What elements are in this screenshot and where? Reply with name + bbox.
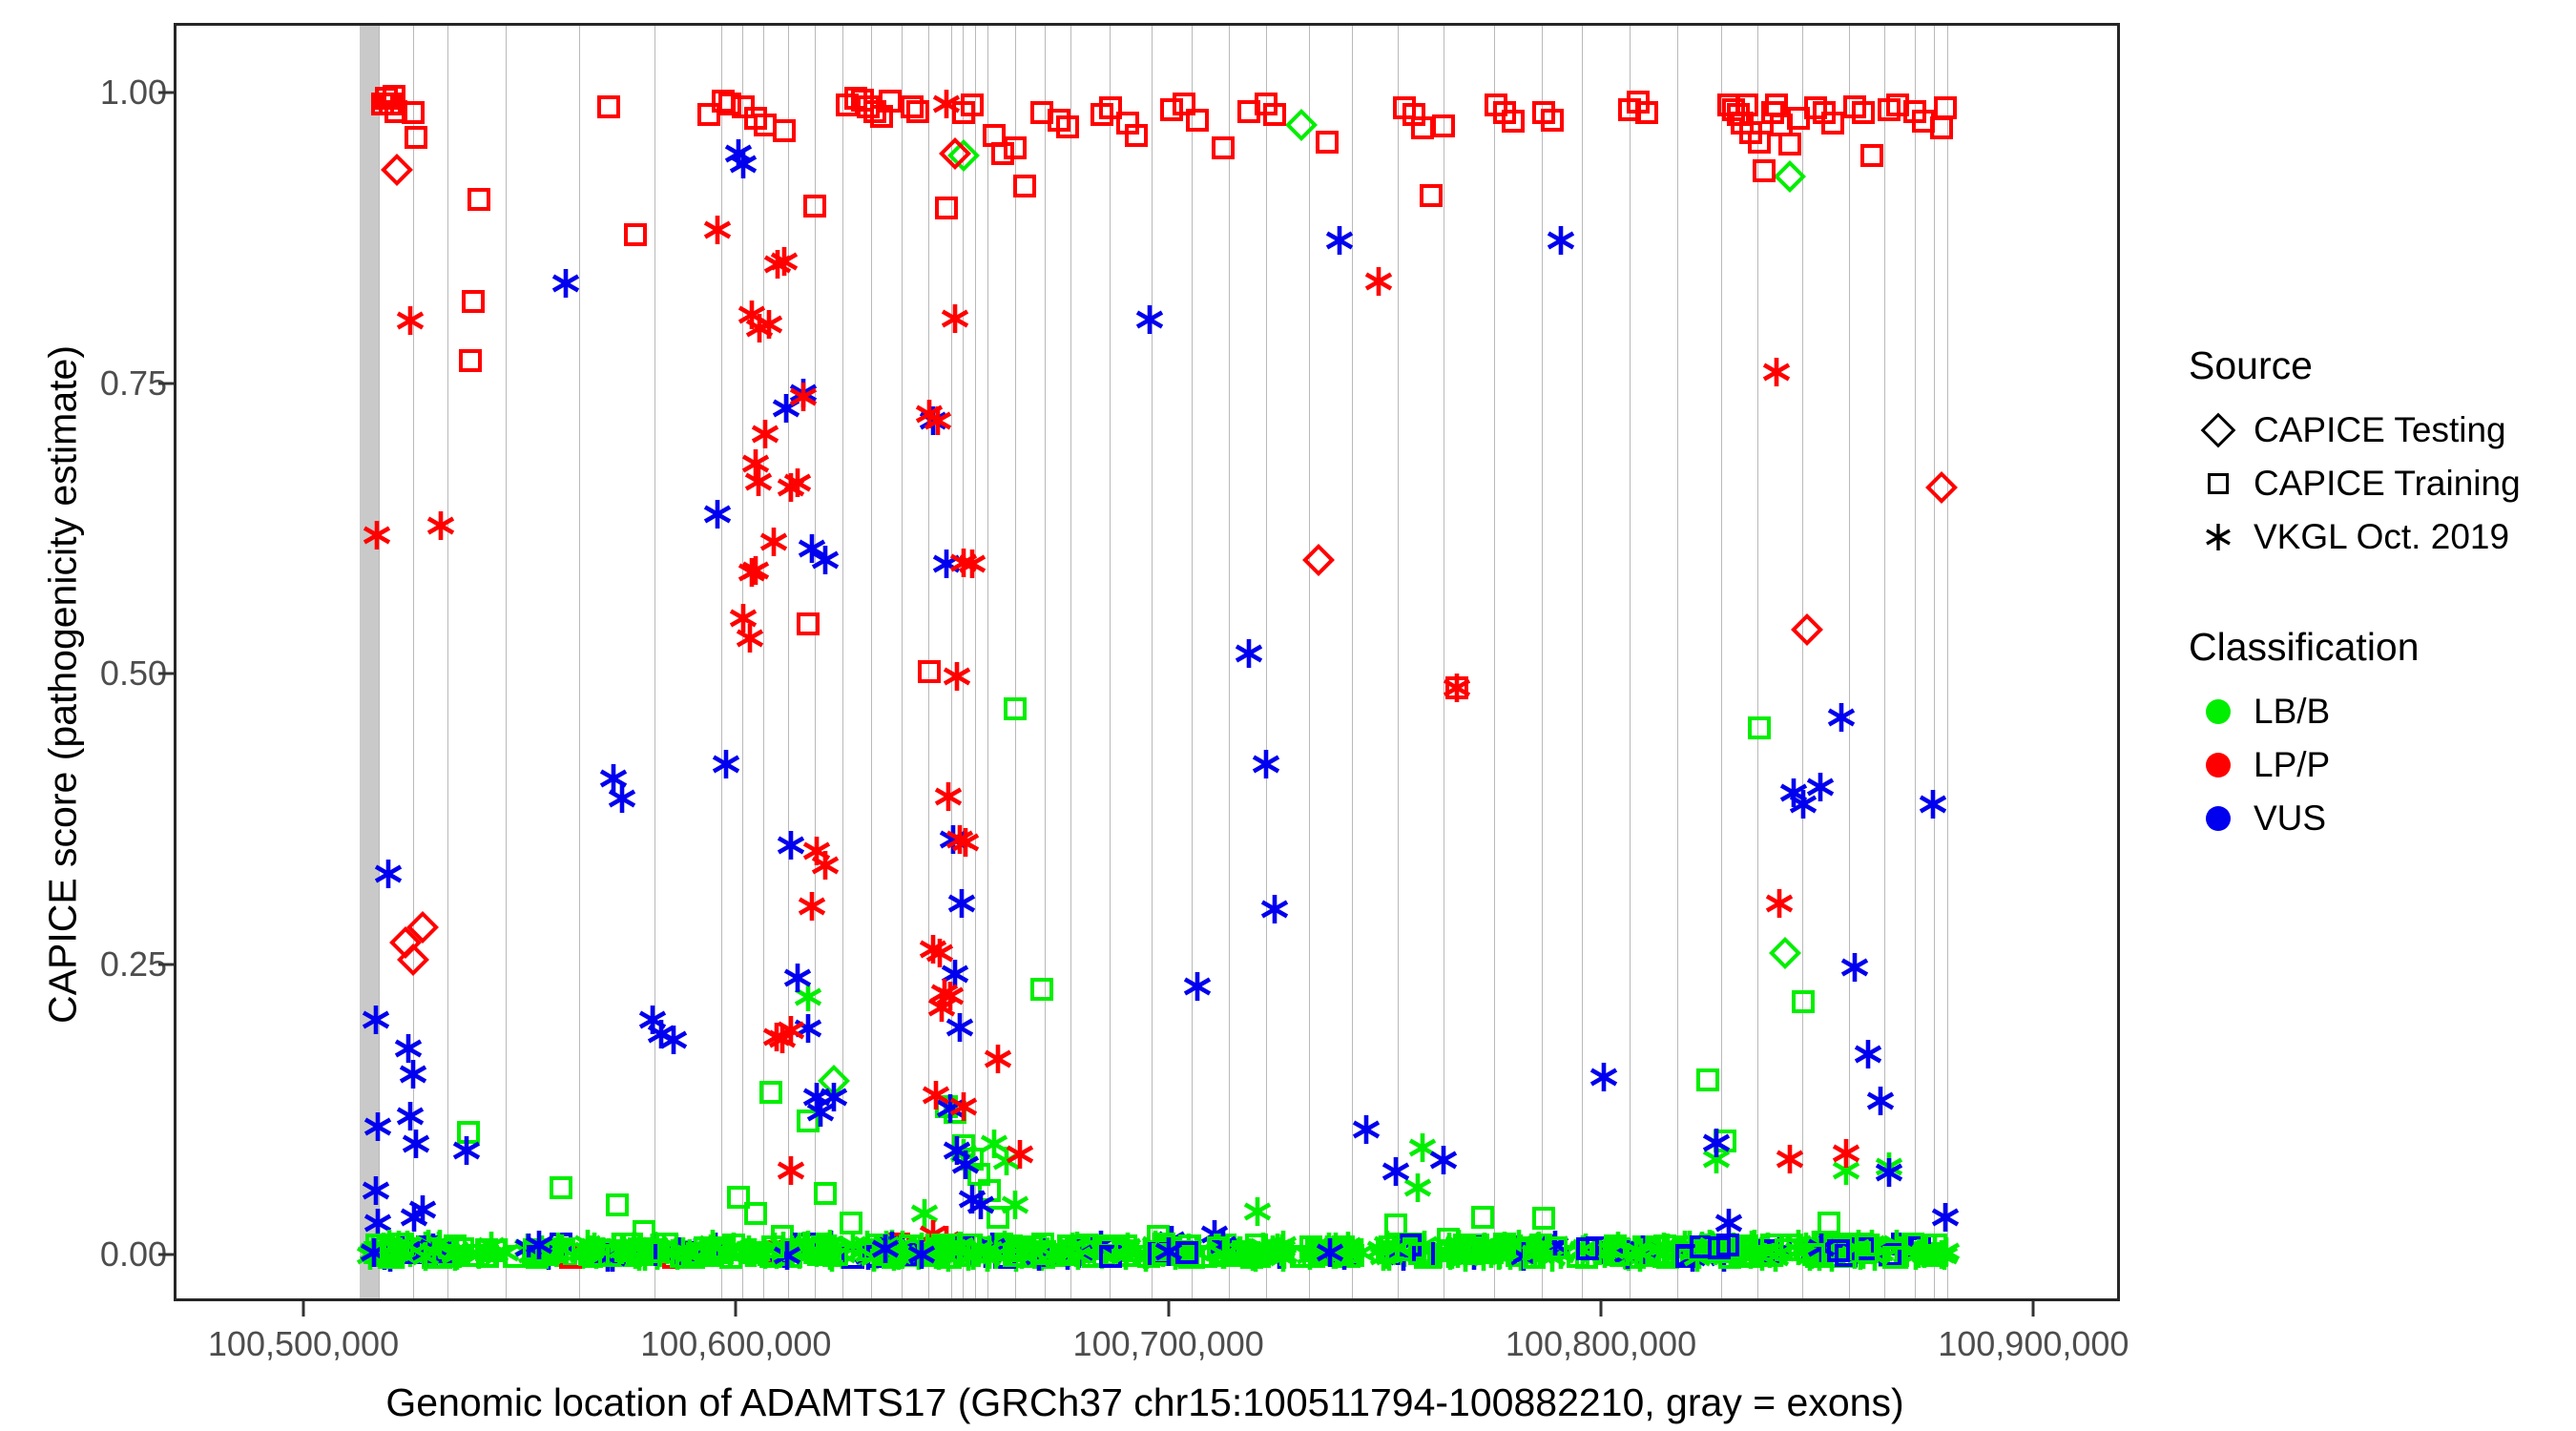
exon-gridline [1677,26,1678,1298]
point-square [593,1241,616,1264]
point-diamond [406,911,439,944]
point-square [1606,1237,1629,1260]
point-square [523,1238,546,1261]
point-asterisk [766,1236,799,1269]
point-asterisk [796,532,828,565]
legend-dot-icon [2183,753,2254,778]
point-diamond [1925,471,1958,504]
point-asterisk [1056,1231,1089,1263]
point-asterisk [956,1183,988,1215]
point-asterisk [578,1231,611,1263]
legend-diamond-icon [2183,418,2254,443]
point-square [377,1244,400,1267]
point-asterisk [973,1234,1006,1266]
point-square [1056,1243,1079,1266]
point-square [1707,1240,1730,1263]
point-diamond [818,1065,850,1097]
point-square [1245,1234,1268,1256]
point-asterisk [1443,1228,1475,1260]
point-asterisk [623,1240,655,1273]
y-tick-mark [158,673,174,675]
point-asterisk [1207,1229,1239,1261]
point-asterisk [796,890,828,923]
point-square [887,1233,910,1255]
point-square [949,1238,972,1261]
point-asterisk [852,1239,884,1272]
point-asterisk [645,1018,677,1050]
exon-gridline [1884,26,1885,1298]
point-asterisk [1408,1234,1441,1267]
point-asterisk [696,1228,729,1260]
x-tick-mark [735,1301,737,1317]
point-square [1412,1242,1435,1265]
point-square [1802,1243,1825,1266]
point-asterisk [571,1228,604,1260]
point-square [1338,1245,1361,1268]
point-asterisk [1130,1241,1162,1274]
point-square [624,223,647,246]
point-asterisk [1545,224,1577,257]
point-asterisk [417,1232,449,1264]
point-asterisk [949,826,982,859]
point-asterisk [753,308,785,341]
exon-gridline [963,26,964,1298]
point-asterisk [575,1234,608,1266]
exon-gridline [1915,26,1916,1298]
point-square [1807,1242,1830,1265]
point-asterisk [922,1236,954,1269]
legend-title-source: Source [2189,343,2565,388]
point-asterisk [1362,265,1395,298]
x-tick-mark [1167,1301,1170,1317]
point-square [762,1240,785,1263]
point-asterisk [546,1233,578,1265]
point-diamond [1302,544,1335,576]
point-asterisk [800,1081,833,1113]
point-square [1804,1237,1827,1260]
point-asterisk [1060,1236,1092,1269]
point-square [633,1220,655,1243]
point-square [1420,1245,1443,1268]
point-square [1048,109,1070,132]
point-square [1638,1238,1661,1261]
point-asterisk [1509,1236,1542,1269]
point-square [1464,1240,1486,1263]
point-asterisk [1163,1234,1195,1267]
point-asterisk [592,1241,624,1274]
point-asterisk [697,1231,730,1263]
point-asterisk [973,1238,1006,1271]
point-square [1739,1245,1762,1268]
point-square [1075,1234,1098,1256]
exon-gridline [902,26,903,1298]
point-diamond [381,154,413,186]
point-asterisk [1798,1235,1831,1268]
point-asterisk [1328,1239,1361,1272]
point-square [1827,1233,1850,1255]
point-asterisk [739,447,772,480]
point-asterisk [876,1228,908,1260]
point-asterisk [597,762,630,795]
point-square [416,1235,439,1258]
point-asterisk [792,1229,824,1261]
point-asterisk [1612,1236,1645,1269]
point-asterisk [1402,1172,1434,1204]
point-square [462,1244,485,1267]
point-square [1863,1240,1886,1263]
point-square [1006,1239,1028,1262]
point-asterisk [523,1229,555,1261]
point-asterisk [463,1238,495,1271]
point-square [1393,1236,1416,1259]
point-asterisk [952,1240,985,1273]
legend-item-lb-b[interactable]: LB/B [2183,685,2565,738]
point-asterisk [1873,1151,1905,1183]
point-square [1402,103,1425,126]
point-asterisk [937,1232,969,1264]
point-asterisk [956,548,988,580]
point-square [1818,1212,1840,1234]
exon-gridline [579,26,580,1298]
point-square [1545,1236,1568,1259]
point-asterisk [1864,1085,1897,1117]
point-asterisk [661,1239,694,1272]
point-asterisk [1695,1229,1728,1261]
point-asterisk [439,1239,471,1272]
y-tick-mark [158,1254,174,1256]
point-asterisk [1624,1241,1656,1274]
point-square [647,1240,670,1263]
point-asterisk [944,1011,976,1044]
exon-gridline [1192,26,1193,1298]
point-asterisk [439,1240,471,1273]
point-asterisk [1436,1238,1468,1271]
point-square [672,1241,695,1264]
point-square [866,1234,889,1256]
point-asterisk [1321,1234,1354,1266]
point-asterisk [1859,1240,1891,1273]
point-asterisk [386,1231,419,1263]
point-asterisk [406,1193,439,1226]
point-asterisk [1505,1240,1537,1273]
point-square [805,1233,828,1255]
point-asterisk [1902,1237,1935,1270]
point-square [875,1243,898,1266]
point-asterisk [424,1228,456,1260]
point-asterisk [1569,1232,1602,1264]
exon-gridline [1352,26,1353,1298]
point-asterisk [1444,1234,1476,1267]
point-asterisk [800,835,833,867]
point-square [434,1240,457,1263]
point-square [929,1237,952,1260]
point-asterisk [722,137,755,170]
point-square [1602,1241,1625,1264]
point-asterisk [1847,1238,1880,1271]
point-square [814,1182,837,1205]
point-asterisk [1367,1240,1400,1273]
point-square [1302,1245,1325,1268]
point-asterisk [930,88,963,120]
exon-gridline [1309,26,1310,1298]
point-asterisk [1388,1236,1421,1269]
point-square [961,93,984,116]
point-asterisk [592,1236,625,1269]
point-square [1835,1238,1858,1261]
exon-band [360,26,380,1298]
point-square [1463,1242,1485,1265]
exon-gridline [1110,26,1111,1298]
point-square [1092,1237,1115,1260]
point-square [1116,1244,1139,1267]
point-square [1532,101,1555,124]
point-asterisk [1181,1236,1214,1269]
point-square [742,1241,765,1264]
point-asterisk [1483,1239,1515,1272]
point-square [1818,1237,1841,1260]
point-square [1727,103,1750,126]
point-asterisk [930,1224,963,1256]
point-asterisk [1760,356,1793,388]
point-square [783,1238,806,1261]
point-asterisk [550,267,582,300]
point-asterisk [1752,1231,1784,1263]
point-square [1735,1234,1758,1257]
point-square [906,100,929,123]
point-square [1878,98,1901,121]
point-asterisk [978,1128,1010,1160]
point-asterisk [800,1236,833,1269]
point-asterisk [1110,1239,1142,1272]
point-square [924,1244,946,1267]
point-asterisk [1267,1241,1299,1274]
point-asterisk [392,1032,425,1065]
point-asterisk [876,1230,908,1262]
exon-gridline [1494,26,1495,1298]
point-asterisk [1380,1155,1412,1188]
point-asterisk [1700,1127,1733,1159]
point-asterisk [1139,1229,1172,1261]
legend-item-capice-testing[interactable]: CAPICE Testing [2183,404,2565,457]
point-asterisk [1700,1143,1733,1175]
point-diamond [389,926,422,959]
point-asterisk [917,933,949,965]
point-asterisk [1263,1238,1296,1271]
point-asterisk [1503,1228,1535,1260]
point-square [631,1243,654,1266]
point-square [383,1239,405,1262]
legend-item-vus[interactable]: VUS [2183,792,2565,845]
point-square [1376,1240,1399,1263]
point-asterisk [1827,1234,1859,1266]
exon-gridline [871,26,872,1298]
point-square [1814,1233,1837,1255]
point-asterisk [1815,1237,1847,1270]
x-tick-label: 100,900,000 [1938,1324,2129,1364]
point-asterisk [532,1239,565,1272]
point-square [1063,1243,1086,1266]
exon-gridline [654,26,655,1298]
point-asterisk [1129,1238,1161,1271]
point-asterisk [1804,771,1837,803]
point-asterisk [1907,1236,1940,1269]
point-asterisk [1164,1234,1196,1267]
point-square [990,1233,1013,1255]
point-square [467,1244,489,1267]
point-square [1930,116,1953,139]
point-asterisk [739,554,772,587]
point-asterisk [1233,637,1265,670]
point-asterisk [699,1231,732,1263]
point-asterisk [1873,1156,1905,1189]
point-asterisk [1335,1234,1367,1267]
point-square [535,1238,558,1261]
point-square [429,1246,452,1269]
point-asterisk [774,1237,806,1270]
point-square [1818,1245,1840,1268]
legend-item-capice-training[interactable]: CAPICE Training [2183,457,2565,510]
point-asterisk [411,1238,444,1271]
legend-asterisk-icon [2183,521,2254,553]
point-asterisk [1159,1239,1192,1272]
point-square [1879,1243,1901,1266]
point-asterisk [945,887,978,920]
point-asterisk [922,404,954,437]
point-square [758,1243,780,1266]
point-asterisk [580,1238,613,1271]
point-asterisk [1475,1237,1507,1270]
point-square [589,1244,612,1267]
point-square [773,119,796,142]
point-asterisk [965,1189,997,1221]
exon-gridline [1542,26,1543,1298]
exon-gridline [1802,26,1803,1298]
point-square [1675,1245,1698,1268]
point-asterisk [526,1234,558,1266]
point-asterisk [775,829,807,861]
point-square [1716,1234,1739,1256]
point-asterisk [648,1231,680,1263]
y-tick-label: 1.00 [100,73,167,113]
point-square [1229,1244,1252,1267]
y-tick-label: 0.75 [100,363,167,404]
point-square [1024,1235,1047,1258]
point-asterisk [1696,1230,1729,1262]
point-asterisk [1423,1238,1456,1271]
point-square [761,1235,784,1258]
point-square [598,1244,621,1267]
point-square [1232,1240,1255,1263]
point-asterisk [1801,1235,1834,1268]
point-square [697,103,720,126]
point-asterisk [1053,1234,1086,1267]
point-asterisk [617,1236,650,1269]
point-asterisk [636,1004,669,1036]
x-tick-label: 100,600,000 [640,1324,831,1364]
point-asterisk [1713,1207,1745,1239]
point-asterisk [1524,1235,1556,1268]
point-square [1137,1245,1160,1268]
point-square [844,87,867,110]
point-square [1722,98,1745,121]
point-square [534,1242,557,1265]
legend-label: LB/B [2254,692,2330,732]
point-asterisk [738,1236,771,1269]
point-asterisk [920,1238,952,1271]
point-asterisk [1432,1237,1465,1270]
point-square [420,1240,443,1263]
point-asterisk [733,1234,765,1266]
point-asterisk [701,498,734,530]
point-asterisk [679,1236,712,1269]
point-asterisk [1257,1234,1289,1266]
point-square [655,1233,678,1255]
point-square [1821,112,1844,135]
point-square [825,1243,848,1266]
x-tick-mark [1600,1301,1603,1317]
point-square [779,1245,802,1268]
point-asterisk [1735,1238,1767,1271]
point-square [744,1202,767,1225]
point-asterisk [1433,1231,1465,1263]
point-asterisk [1908,1237,1941,1270]
point-asterisk [758,526,790,558]
y-tick-label: 0.50 [100,653,167,694]
point-square [613,1233,635,1255]
point-square [587,1244,610,1267]
point-asterisk [1507,1240,1540,1273]
point-square [1473,1239,1496,1262]
point-asterisk [1085,1229,1117,1261]
point-square [1934,96,1957,119]
point-asterisk [1839,951,1871,984]
point-diamond [1791,613,1823,646]
point-square [1175,1244,1198,1267]
point-asterisk [925,991,958,1024]
point-asterisk [636,1232,669,1264]
point-square [1739,121,1762,144]
exon-gridline [1934,26,1935,1298]
point-asterisk [567,1238,599,1271]
point-asterisk [1589,1237,1621,1270]
point-asterisk [1669,1229,1701,1261]
point-asterisk [450,1134,483,1167]
point-asterisk [701,214,734,246]
point-asterisk [1449,1236,1482,1269]
point-asterisk [1688,1232,1720,1264]
point-asterisk [660,1233,693,1265]
legend-item-lp-p[interactable]: LP/P [2183,738,2565,792]
point-square [1652,1245,1675,1268]
point-square [1843,95,1866,118]
y-tick-mark [158,92,174,94]
exon-gridline [1152,26,1153,1298]
point-asterisk [922,1238,954,1271]
point-asterisk [394,304,426,337]
point-asterisk [990,1145,1023,1177]
point-asterisk [792,1012,824,1045]
x-tick-label: 100,800,000 [1506,1324,1696,1364]
point-square [1805,1245,1828,1268]
point-asterisk [905,1231,938,1263]
point-square [1031,1244,1054,1267]
point-square [1437,1239,1460,1262]
legend-item-vkgl-oct-2019[interactable]: VKGL Oct. 2019 [2183,510,2565,564]
point-asterisk [571,1234,604,1267]
point-square [1632,1235,1655,1258]
point-asterisk [1782,1234,1815,1267]
point-asterisk [1825,701,1858,734]
